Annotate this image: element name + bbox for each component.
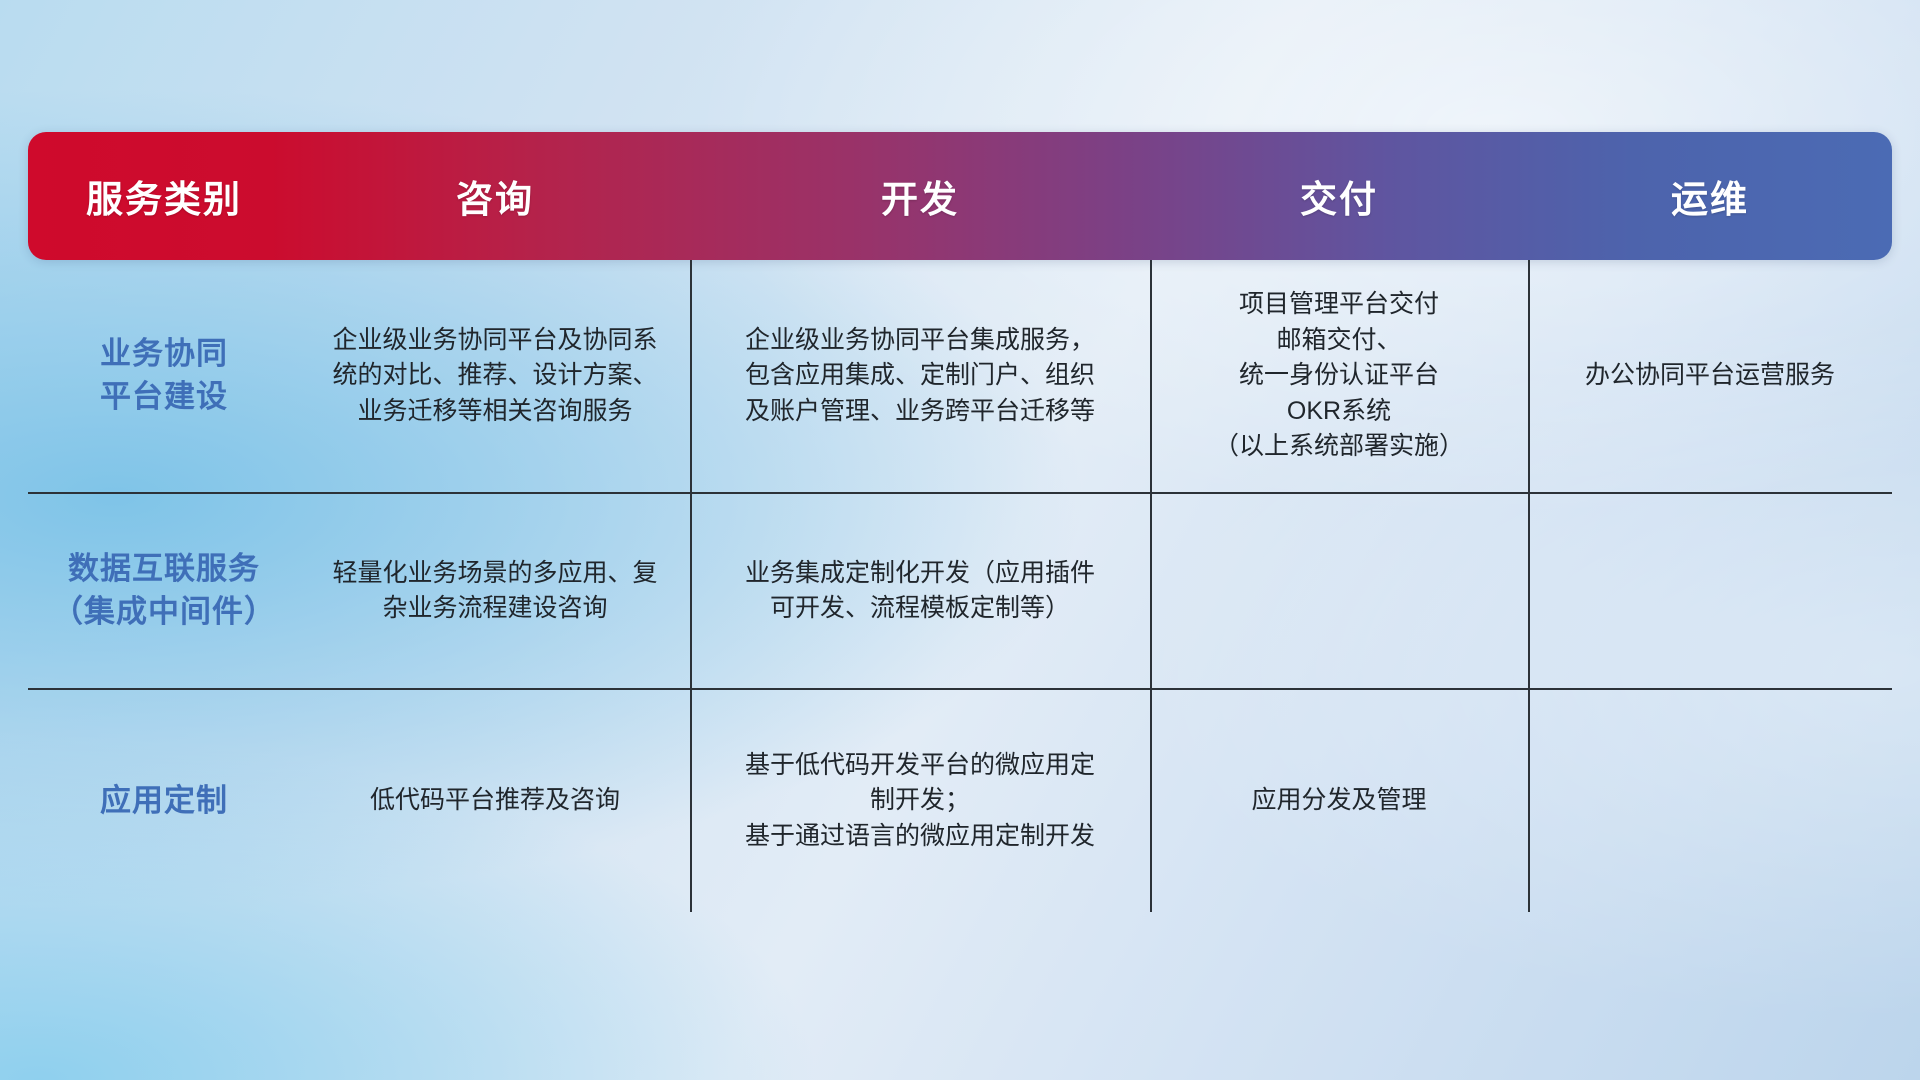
cell-operations: 办公协同平台运营服务 [1528,260,1892,492]
header-label-service-category: 服务类别 [86,169,242,223]
row-category-cell: 数据互联服务 （集成中间件） [28,494,300,688]
cell-operations [1528,494,1892,688]
cell-delivery: 应用分发及管理 [1150,690,1528,912]
cell-consulting: 低代码平台推荐及咨询 [300,690,690,912]
cell-delivery-text: 项目管理平台交付 邮箱交付、 统一身份认证平台 OKR系统 （以上系统部署实施） [1214,287,1464,465]
cell-delivery [1150,494,1528,688]
table-row: 数据互联服务 （集成中间件） 轻量化业务场景的多应用、复 杂业务流程建设咨询 业… [28,492,1892,688]
header-label-consulting: 咨询 [456,169,534,223]
cell-operations [1528,690,1892,912]
cell-consulting-text: 轻量化业务场景的多应用、复 杂业务流程建设咨询 [332,556,657,627]
cell-development-text: 基于低代码开发平台的微应用定 制开发； 基于通过语言的微应用定制开发 [745,748,1095,855]
header-label-development: 开发 [881,169,959,223]
cell-consulting: 企业级业务协同平台及协同系 统的对比、推荐、设计方案、 业务迁移等相关咨询服务 [300,260,690,492]
slide-canvas: 服务类别 咨询 开发 交付 运维 业务协同 平台建设 [0,0,1920,1080]
table-header-row: 服务类别 咨询 开发 交付 运维 [28,132,1892,260]
table-header-cell-consulting: 咨询 [300,132,690,260]
cell-development-text: 业务集成定制化开发（应用插件 可开发、流程模板定制等） [745,556,1095,627]
table-header-cell-operations: 运维 [1528,132,1892,260]
row-category-cell: 应用定制 [28,690,300,912]
cell-consulting: 轻量化业务场景的多应用、复 杂业务流程建设咨询 [300,494,690,688]
table-body: 业务协同 平台建设 企业级业务协同平台及协同系 统的对比、推荐、设计方案、 业务… [28,260,1892,912]
table-row: 业务协同 平台建设 企业级业务协同平台及协同系 统的对比、推荐、设计方案、 业务… [28,260,1892,492]
cell-consulting-text: 低代码平台推荐及咨询 [370,783,620,819]
cell-delivery: 项目管理平台交付 邮箱交付、 统一身份认证平台 OKR系统 （以上系统部署实施） [1150,260,1528,492]
table-header-cell-service-category: 服务类别 [28,132,300,260]
row-category-cell: 业务协同 平台建设 [28,260,300,492]
header-label-operations: 运维 [1671,169,1749,223]
table-header-cell-development: 开发 [690,132,1150,260]
service-matrix-table: 服务类别 咨询 开发 交付 运维 业务协同 平台建设 [28,132,1892,912]
cell-consulting-text: 企业级业务协同平台及协同系 统的对比、推荐、设计方案、 业务迁移等相关咨询服务 [332,323,657,430]
row-category-label: 数据互联服务 （集成中间件） [52,548,276,634]
cell-development: 基于低代码开发平台的微应用定 制开发； 基于通过语言的微应用定制开发 [690,690,1150,912]
table-header-cell-delivery: 交付 [1150,132,1528,260]
cell-development: 业务集成定制化开发（应用插件 可开发、流程模板定制等） [690,494,1150,688]
cell-delivery-text: 应用分发及管理 [1251,783,1426,819]
row-category-label: 应用定制 [100,780,228,823]
row-category-label: 业务协同 平台建设 [100,333,228,419]
cell-development: 企业级业务协同平台集成服务， 包含应用集成、定制门户、组织 及账户管理、业务跨平… [690,260,1150,492]
header-label-delivery: 交付 [1300,169,1378,223]
cell-development-text: 企业级业务协同平台集成服务， 包含应用集成、定制门户、组织 及账户管理、业务跨平… [745,323,1095,430]
table-row: 应用定制 低代码平台推荐及咨询 基于低代码开发平台的微应用定 制开发； 基于通过… [28,688,1892,912]
cell-operations-text: 办公协同平台运营服务 [1585,358,1835,394]
